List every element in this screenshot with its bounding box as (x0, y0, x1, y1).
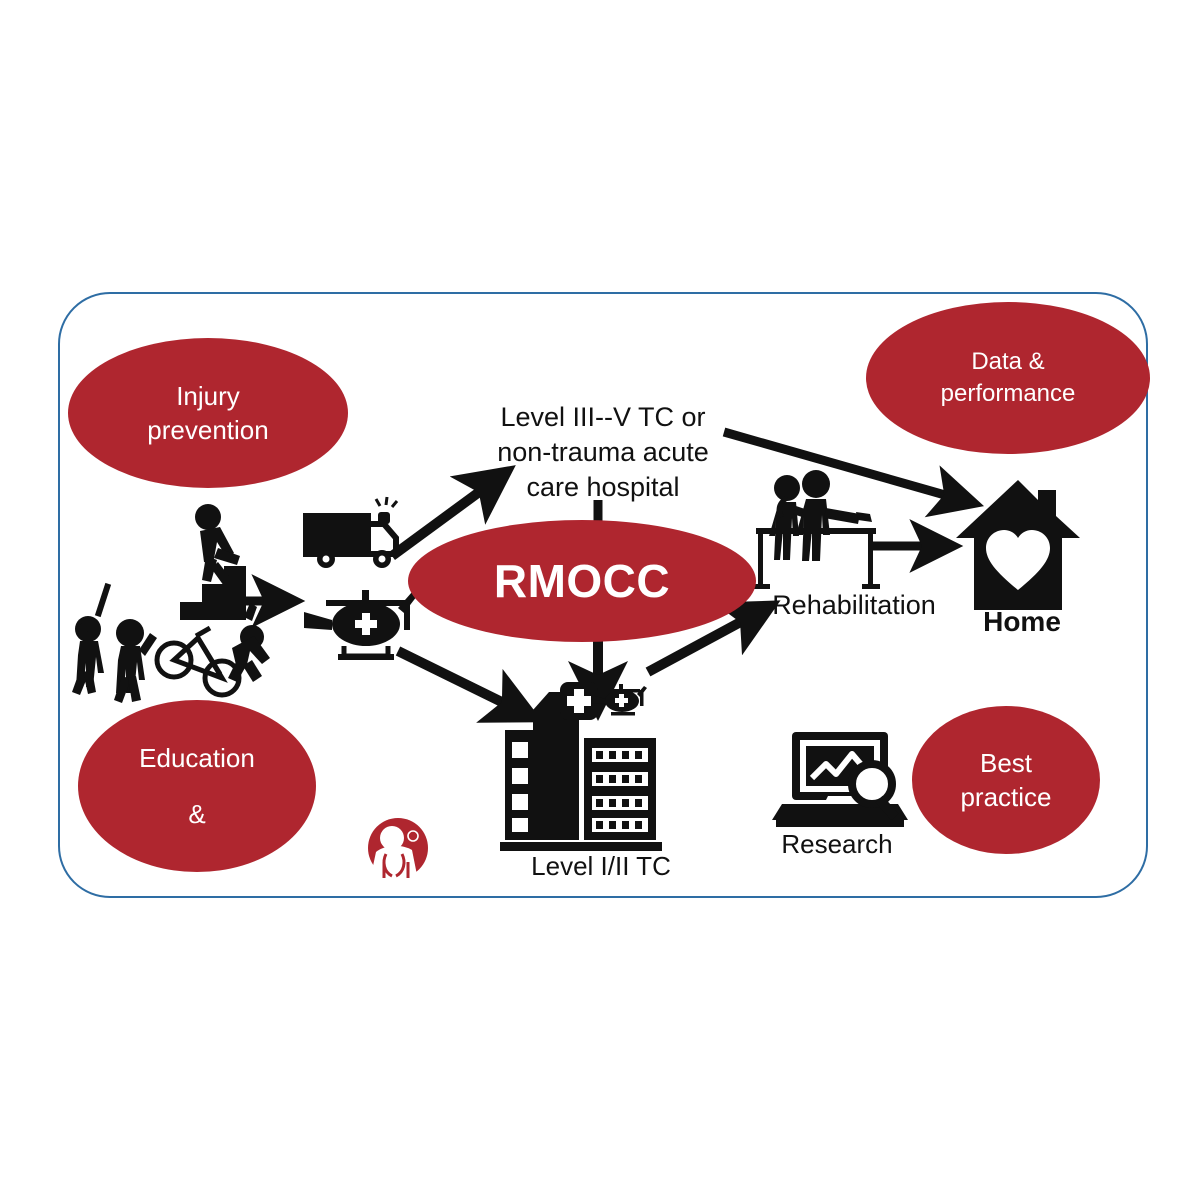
data-performance-line1: Data & (971, 346, 1044, 378)
ellipse-education[interactable]: Education & (78, 700, 316, 872)
label-research: Research (762, 828, 912, 862)
injury-prevention-line2: prevention (147, 413, 268, 447)
label-acute-care-hospital: Level III--V TC or non-trauma acute care… (458, 400, 748, 505)
figure-canvas: Injury prevention Data & performance Edu… (0, 0, 1200, 1200)
acute-hospital-line2: non-trauma acute (497, 437, 709, 467)
acute-hospital-line3: care hospital (526, 472, 679, 502)
data-performance-line2: performance (941, 378, 1076, 410)
ellipse-injury-prevention[interactable]: Injury prevention (68, 338, 348, 488)
education-line1: Education (139, 741, 255, 775)
ellipse-rmocc[interactable]: RMOCC (408, 520, 756, 642)
acute-hospital-line1: Level III--V TC or (500, 402, 705, 432)
ellipse-data-performance[interactable]: Data & performance (866, 302, 1150, 454)
label-level-i-ii-tc: Level I/II TC (508, 850, 694, 884)
ellipse-best-practice[interactable]: Best practice (912, 706, 1100, 854)
label-rehabilitation: Rehabilitation (748, 588, 960, 623)
education-line2: & (188, 797, 205, 831)
label-home: Home (956, 604, 1088, 640)
best-practice-line2: practice (960, 780, 1051, 814)
injury-prevention-line1: Injury (176, 379, 240, 413)
best-practice-line1: Best (980, 746, 1032, 780)
rmocc-label: RMOCC (494, 551, 670, 612)
